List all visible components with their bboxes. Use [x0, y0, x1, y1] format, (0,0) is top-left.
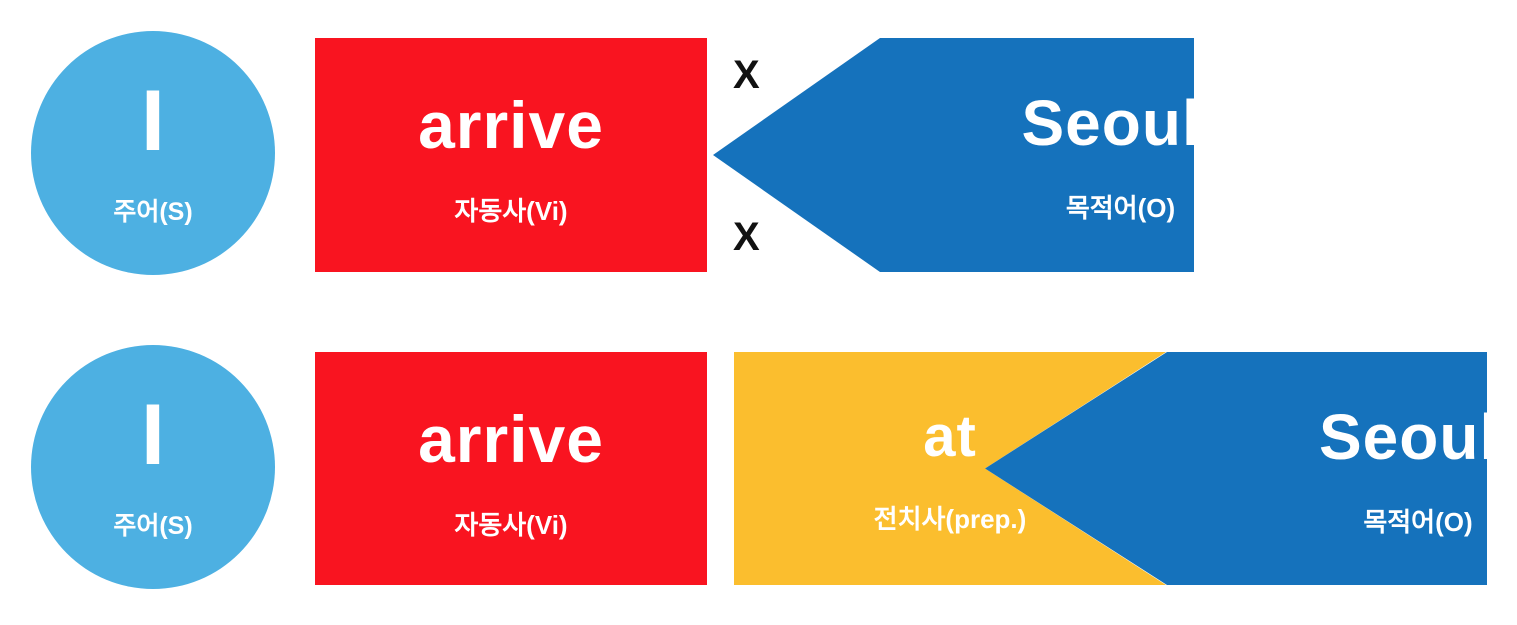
row2-object-word: Seoul. — [1319, 405, 1517, 469]
row2-verb-tag: 자동사(Vi) — [454, 512, 567, 538]
row1-object-pennant: Seoul. 목적어(O) — [713, 38, 1194, 272]
row1-object-tag: 목적어(O) — [1066, 195, 1175, 221]
row1-subject-tag: 주어(S) — [113, 200, 192, 225]
row2-subject-tag: 주어(S) — [113, 514, 192, 539]
row1-verb-word: arrive — [418, 92, 604, 158]
row1-object-word: Seoul. — [1021, 91, 1219, 155]
row1-subject-word: I — [141, 78, 165, 164]
row1-verb-tag: 자동사(Vi) — [454, 198, 567, 224]
row1-verb-box: arrive 자동사(Vi) — [315, 38, 707, 272]
row1-subject-circle: I 주어(S) — [31, 31, 275, 275]
row2-subject-word: I — [141, 392, 165, 478]
row2-verb-box: arrive 자동사(Vi) — [315, 352, 707, 585]
row2-object-tag: 목적어(O) — [1363, 509, 1472, 535]
row2-subject-circle: I 주어(S) — [31, 345, 275, 589]
diagram-canvas: I 주어(S) arrive 자동사(Vi) X X Seoul. 목적어(O)… — [0, 0, 1517, 625]
row2-verb-word: arrive — [418, 406, 604, 472]
row2-object-pennant: Seoul. 목적어(O) — [985, 352, 1487, 585]
row2-preposition-word: at — [923, 408, 977, 466]
